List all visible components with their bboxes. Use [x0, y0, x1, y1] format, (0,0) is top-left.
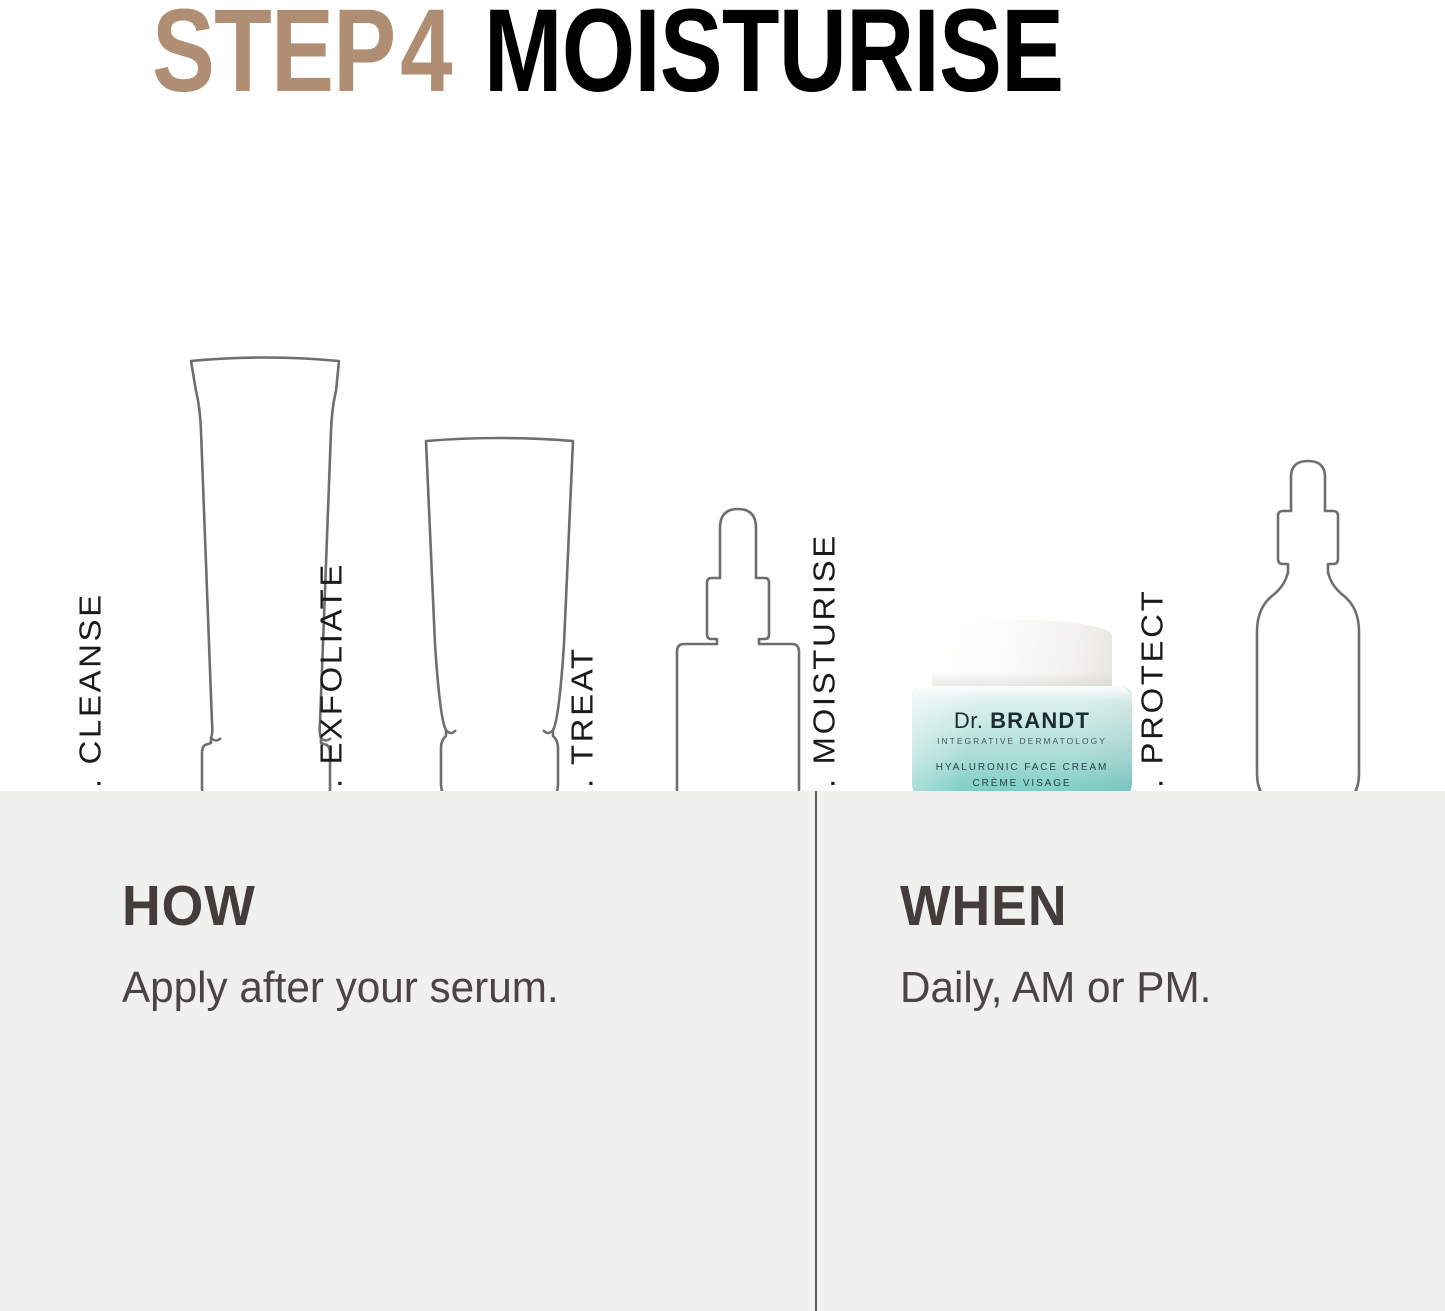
jar-product-name-line2: CRÈME VISAGE: [912, 778, 1132, 789]
jar-brand-prefix: Dr.: [954, 708, 984, 733]
header: STEP4MOISTURISE: [0, 0, 1445, 120]
routine-step-label: 2. EXFOLIATE: [314, 562, 349, 809]
jar-product-name-line1: HYALURONIC FACE CREAM: [912, 762, 1132, 773]
info-heading-how: HOW: [122, 878, 256, 935]
routine-step-moisturise[interactable]: Dr. BRANDT INTEGRATIVE DERMATOLOGY HYALU…: [912, 620, 1132, 815]
routine-step-label: 5. PROTECT: [1135, 589, 1170, 809]
jar-tagline: INTEGRATIVE DERMATOLOGY: [912, 736, 1132, 746]
info-panel: HOW Apply after your serum. WHEN Daily, …: [0, 791, 1445, 1311]
jar-brand-label: Dr. BRANDT: [912, 708, 1132, 734]
routine-step-label: 1. CLEANSE: [73, 592, 108, 809]
routine-steps-row: 1. CLEANSE 2. EXFOLIATE 3. TREAT: [0, 120, 1445, 791]
tube-wide-outline-icon: [417, 430, 582, 815]
routine-step-label: 4. MOISTURISE: [807, 533, 842, 809]
info-body-how: Apply after your serum.: [122, 966, 559, 1010]
routine-step-protect[interactable]: 5. PROTECT: [1238, 455, 1378, 815]
info-body-when: Daily, AM or PM.: [900, 966, 1211, 1010]
title-step-word: STEP: [152, 0, 395, 117]
title-step-number: 4: [400, 0, 452, 117]
cream-jar-product-icon: Dr. BRANDT INTEGRATIVE DERMATOLOGY HYALU…: [912, 620, 1132, 811]
jar-brand-name: BRANDT: [990, 708, 1090, 733]
routine-step-treat[interactable]: 3. TREAT: [668, 500, 808, 815]
routine-step-exfoliate[interactable]: 2. EXFOLIATE: [417, 430, 582, 815]
panel-divider: [815, 791, 817, 1311]
page-title: STEP4MOISTURISE: [152, 0, 1063, 110]
routine-step-label: 3. TREAT: [565, 646, 600, 809]
jar-body-highlight: [912, 686, 1132, 700]
title-step-name: MOISTURISE: [484, 0, 1063, 117]
serum-bottle-outline-icon: [1238, 455, 1378, 815]
info-heading-when: WHEN: [900, 878, 1067, 935]
infographic-page: STEP4MOISTURISE 1. CLEANSE 2. EXFOLIATE: [0, 0, 1445, 1311]
dropper-bottle-outline-icon: [668, 500, 808, 815]
